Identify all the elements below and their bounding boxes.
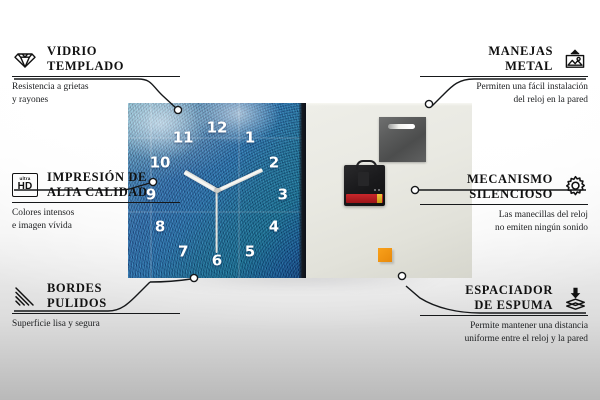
metal-hanger-plate (379, 117, 426, 162)
feature-bordes-pulidos: BORDESPULIDOS Superficie lisa y segura (12, 281, 180, 331)
battery-terminal (377, 194, 382, 203)
clock-second-hand (216, 191, 218, 253)
feature-description: Superficie lisa y segura (12, 318, 180, 330)
clock-numeral-1: 1 (245, 131, 255, 146)
ultra-hd-icon: ultra HD (12, 172, 38, 198)
feature-rule (12, 202, 180, 203)
feature-header: MECANISMOSILENCIOSO (420, 172, 588, 201)
clock-numeral-4: 4 (269, 220, 279, 235)
feature-header: ESPACIADORDE ESPUMA (420, 283, 588, 312)
feature-title: VIDRIOTEMPLADO (47, 44, 124, 73)
feature-title: MECANISMOSILENCIOSO (467, 172, 553, 201)
clock-numeral-7: 7 (178, 244, 188, 259)
mechanism-detail-dot (374, 189, 376, 191)
gear-icon (562, 174, 588, 200)
clock-center-cap (215, 188, 220, 193)
foam-spacer (378, 248, 392, 262)
feature-rule (420, 315, 588, 316)
polished-edges-icon (12, 283, 38, 309)
feature-espaciador-espuma: ESPACIADORDE ESPUMA Permite mantener una… (420, 283, 588, 345)
feature-title: IMPRESIÓN DEALTA CALIDAD (47, 170, 148, 199)
feature-rule (12, 313, 180, 314)
feature-rule (12, 76, 180, 77)
feature-description: Resistencia a grietas y rayones (12, 81, 180, 106)
battery (346, 194, 383, 203)
feature-rule (420, 76, 588, 77)
feature-title: BORDESPULIDOS (47, 281, 107, 310)
mechanism-hanging-loop (356, 160, 377, 170)
feature-title: ESPACIADORDE ESPUMA (465, 283, 553, 312)
clock-numeral-10: 10 (150, 155, 171, 170)
feature-impresion-alta-calidad: ultra HD IMPRESIÓN DEALTA CALIDAD Colore… (12, 170, 180, 232)
clock-mechanism (344, 165, 385, 206)
feature-description: Permite mantener una distancia uniforme … (420, 320, 588, 345)
feature-description: Permiten una fácil instalación del reloj… (420, 81, 588, 106)
clock-numeral-2: 2 (269, 155, 279, 170)
feature-vidrio-templado: VIDRIOTEMPLADO Resistencia a grietas y r… (12, 44, 180, 106)
glass-edge (299, 103, 306, 278)
feature-header: BORDESPULIDOS (12, 281, 180, 310)
feature-header: ultra HD IMPRESIÓN DEALTA CALIDAD (12, 170, 180, 199)
mechanism-shaft (358, 172, 369, 186)
feature-header: VIDRIOTEMPLADO (12, 44, 180, 73)
feature-title: MANEJASMETAL (488, 44, 553, 73)
infographic-canvas: 12 1 2 3 4 5 6 7 8 9 10 11 (0, 0, 600, 400)
feature-mecanismo-silencioso: MECANISMOSILENCIOSO Las manecillas del r… (420, 172, 588, 234)
feature-manejas-metal: MANEJASMETAL Permiten una fácil instalac… (420, 44, 588, 106)
clock-numeral-6: 6 (212, 253, 222, 268)
ultra-hd-icon-main-text: HD (18, 182, 33, 192)
feature-header: MANEJASMETAL (420, 44, 588, 73)
hanger-keyhole-slot (388, 124, 415, 129)
picture-hanger-icon (562, 46, 588, 72)
clock-numeral-11: 11 (173, 131, 194, 146)
clock-numeral-12: 12 (207, 120, 228, 135)
feature-rule (420, 204, 588, 205)
mechanism-detail-dot (378, 189, 380, 191)
clock-numeral-3: 3 (278, 187, 288, 202)
feature-description: Colores intensos e imagen vívida (12, 207, 180, 232)
foam-spacer-icon (562, 285, 588, 311)
clock-numeral-5: 5 (245, 244, 255, 259)
feature-description: Las manecillas del reloj no emiten ningú… (420, 209, 588, 234)
diamond-icon (12, 46, 38, 72)
